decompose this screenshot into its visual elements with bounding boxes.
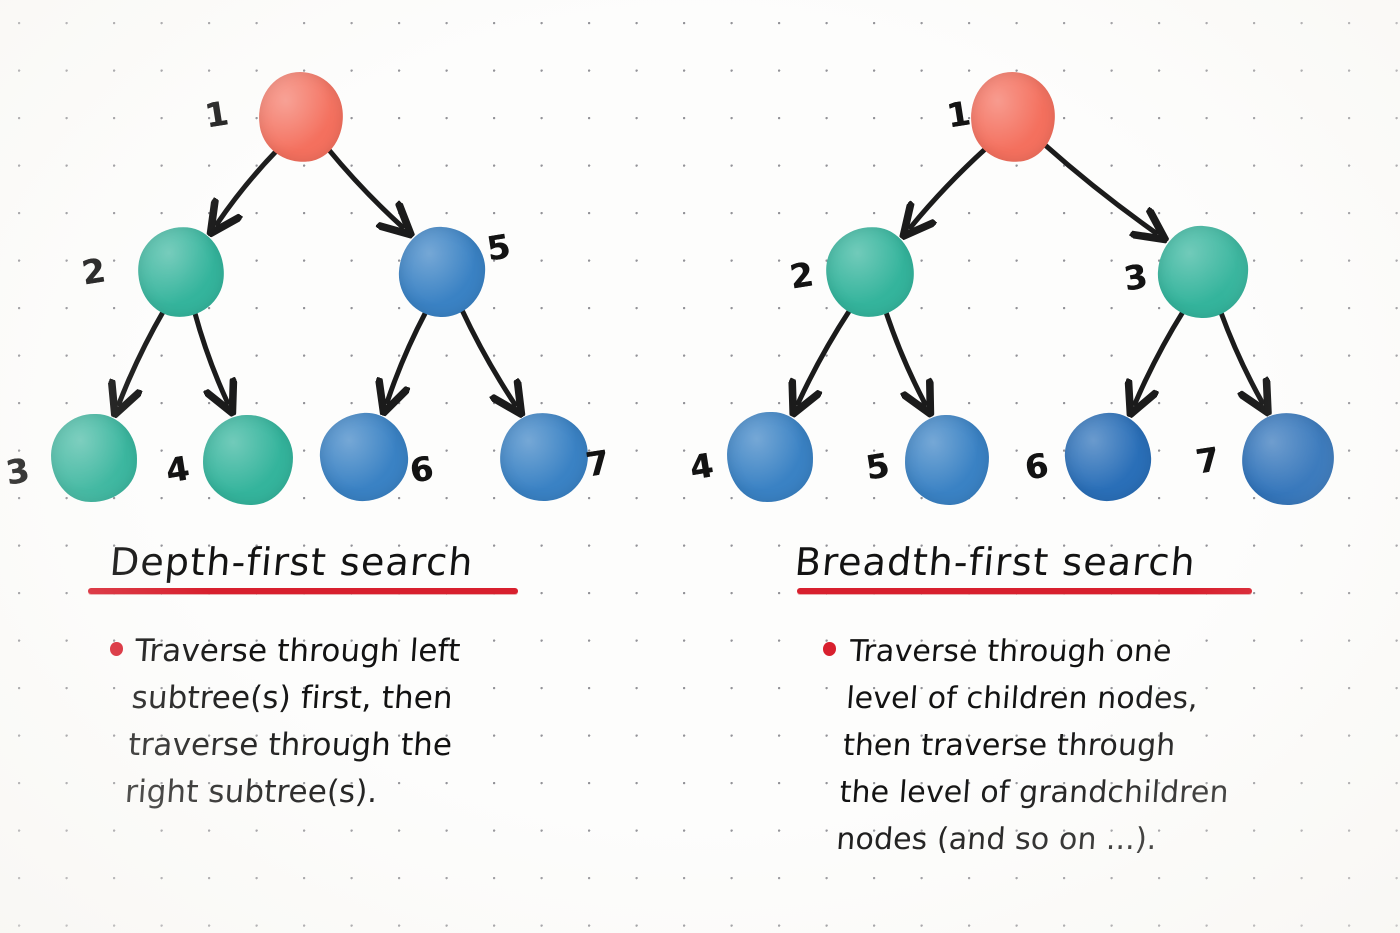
- dfs-title-underline: [88, 588, 518, 594]
- tree-edge-arrow: [328, 149, 403, 227]
- bfs-node-5[interactable]: [904, 414, 990, 505]
- dfs-title: Depth-first search: [108, 540, 692, 584]
- dfs-caption-block: Depth-first search Traverse through left…: [110, 540, 690, 816]
- bfs-bullet-row: Traverse through one level of children n…: [823, 628, 1395, 863]
- dfs-bullet-text: Traverse through left subtree(s) first, …: [123, 628, 461, 816]
- bfs-title: Breadth-first search: [793, 540, 1397, 584]
- tree-edge-arrow: [195, 312, 228, 402]
- tree-edge-arrow: [911, 148, 986, 227]
- notebook-page: 1253467 1234567 Depth-first search Trave…: [0, 0, 1400, 933]
- bullet-dot-icon: [110, 642, 123, 656]
- tree-edge-arrow: [1221, 312, 1263, 403]
- bfs-bullet-text: Traverse through one level of children n…: [835, 628, 1240, 863]
- dfs-node-3[interactable]: [50, 413, 138, 502]
- tree-edge-arrow: [1044, 144, 1156, 233]
- tree-edge-arrow: [387, 311, 426, 401]
- bfs-node-4[interactable]: [726, 411, 814, 502]
- tree-edge-arrow: [886, 312, 925, 404]
- tree-edge-arrow: [798, 310, 850, 404]
- tree-edge-arrow: [1135, 311, 1184, 404]
- dfs-bullet-row: Traverse through left subtree(s) first, …: [110, 628, 690, 816]
- bfs-title-underline: [797, 588, 1252, 594]
- tree-edge-arrow: [462, 309, 515, 404]
- tree-edge-arrow: [217, 151, 277, 224]
- bullet-dot-icon: [823, 642, 836, 656]
- tree-edge-arrow: [119, 311, 164, 404]
- bfs-caption-block: Breadth-first search Traverse through on…: [795, 540, 1395, 863]
